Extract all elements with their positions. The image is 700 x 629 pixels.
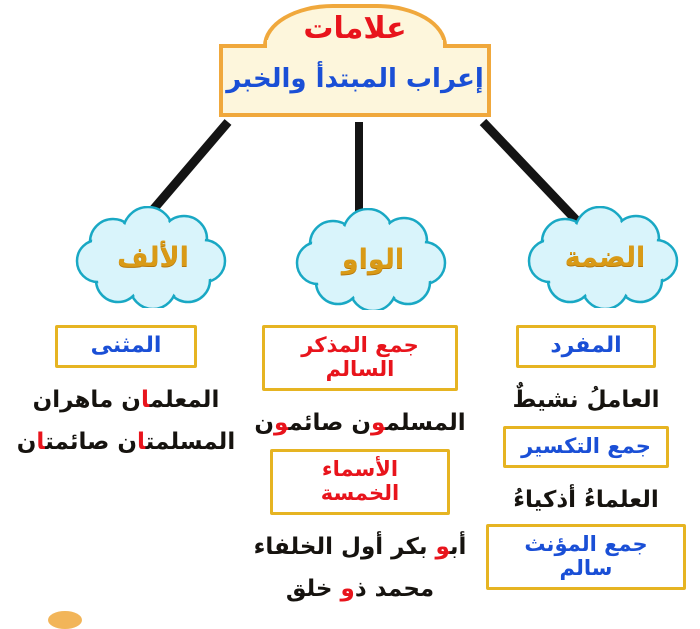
- example-highlight: ا: [36, 429, 45, 455]
- example-mufrad-1: العاملُ نشيطٌ: [466, 386, 700, 414]
- cloud-label-damma: الضمة: [520, 242, 690, 273]
- cloud-label-waw: الواو: [288, 244, 458, 275]
- example-text: العلماء: [584, 487, 659, 513]
- title-line-primary: علامات: [219, 12, 491, 46]
- example-text: أذكياء: [513, 487, 584, 513]
- example-asma-khamsa-2: محمد ذو خلق: [240, 575, 480, 603]
- title-line-secondary: إعراب المبتدأ والخبر: [219, 64, 491, 94]
- example-text: خلق: [286, 576, 341, 602]
- example-muthanna-2: المسلمتان صائمتان: [6, 428, 246, 456]
- term-box-jam-mudhakkar-salim[interactable]: جمع المذكر السالم: [262, 325, 458, 391]
- term-box-jam-muannath-salim[interactable]: جمع المؤنث سالم: [486, 524, 686, 590]
- example-text: المعلم: [150, 387, 220, 413]
- example-highlight: ا: [141, 387, 150, 413]
- branch-column-alef: المثنى المعلمان ماهران المسلمتان صائمتان: [6, 325, 246, 456]
- example-text: العامل: [587, 387, 660, 413]
- cloud-label-alef: الألف: [68, 242, 238, 273]
- term-box-jam-taksir[interactable]: جمع التكسير: [503, 426, 669, 468]
- example-highlight: و: [435, 534, 449, 560]
- example-text: المسلم: [385, 410, 465, 436]
- bottom-decoration-clipped: [48, 611, 82, 629]
- example-text: المسلمت: [146, 429, 236, 455]
- example-highlight: و: [371, 410, 385, 436]
- example-text: ن صائمت: [45, 429, 137, 455]
- example-text: ن: [17, 429, 37, 455]
- term-box-muthanna[interactable]: المثنى: [55, 325, 197, 368]
- example-text: ن: [254, 410, 274, 436]
- term-box-asma-khamsa[interactable]: الأسماء الخمسة: [270, 449, 450, 515]
- example-taksir-1: العلماءُ أذكياءُ: [466, 486, 700, 514]
- branch-column-damma: المفرد العاملُ نشيطٌ جمع التكسير العلماء…: [466, 325, 700, 590]
- diagram-title-plaque: علامات إعراب المبتدأ والخبر: [219, 4, 491, 117]
- example-text: نشيط: [513, 387, 587, 413]
- term-box-mufrad[interactable]: المفرد: [516, 325, 656, 368]
- branch-cloud-waw[interactable]: الواو: [288, 208, 458, 310]
- example-text: بكر أول الخلفاء: [254, 534, 436, 560]
- branch-column-waw: جمع المذكر السالم المسلمون صائمون الأسما…: [240, 325, 480, 603]
- branch-cloud-damma[interactable]: الضمة: [520, 206, 690, 308]
- example-text: ن ماهران: [33, 387, 141, 413]
- example-asma-khamsa-1: أبو بكر أول الخلفاء: [240, 533, 480, 561]
- example-highlight: و: [274, 410, 288, 436]
- example-highlight: و: [341, 576, 355, 602]
- branch-cloud-alef[interactable]: الألف: [68, 206, 238, 308]
- diagram-canvas: علامات إعراب المبتدأ والخبر: [0, 0, 700, 621]
- example-highlight: ا: [137, 429, 146, 455]
- example-muthanna-1: المعلمان ماهران: [6, 386, 246, 414]
- example-mudhakkar-1: المسلمون صائمون: [240, 409, 480, 437]
- example-text: أب: [450, 534, 467, 560]
- example-text: محمد ذ: [355, 576, 434, 602]
- example-text: ن صائم: [288, 410, 371, 436]
